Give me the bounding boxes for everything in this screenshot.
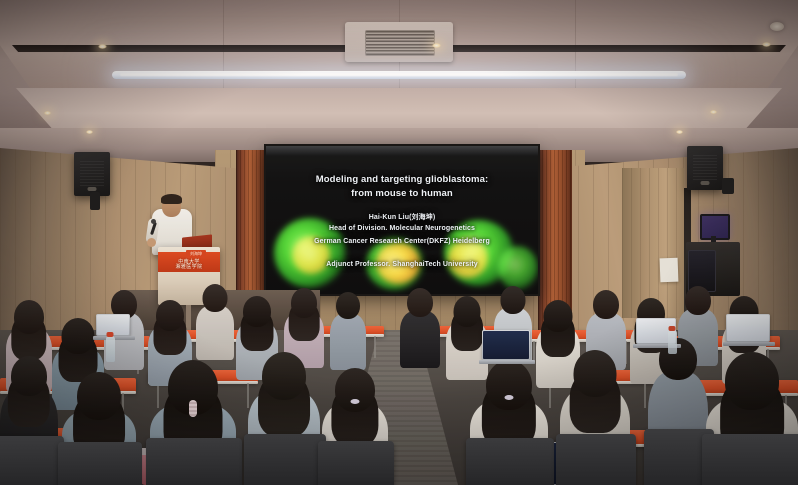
audience-torso	[330, 314, 366, 370]
slide-affiliation-2: German Cancer Research Center(DKFZ) Heid…	[266, 238, 538, 245]
downlight-icon	[86, 130, 93, 134]
audience-head	[501, 286, 526, 314]
audience-head	[243, 296, 271, 327]
slide-title-line2: from mouse to human	[266, 188, 538, 199]
chair-back	[146, 438, 242, 485]
downlight-icon	[98, 44, 107, 49]
hair-tie	[505, 395, 514, 400]
bottle-cap	[669, 326, 676, 331]
audience-head	[336, 292, 360, 319]
downlight-icon	[762, 42, 771, 47]
speaker-bracket-right	[722, 178, 734, 194]
chair-back	[244, 434, 326, 485]
audience-member	[196, 284, 234, 360]
speaker-logo	[701, 181, 710, 185]
audience-head	[574, 350, 617, 397]
slide-presenter-name: Hai-Kun Liu(刘海坤)	[266, 212, 538, 222]
audience-head	[262, 352, 306, 400]
slide-title-line1: Modeling and targeting glioblastoma:	[266, 174, 538, 185]
ceiling	[0, 0, 798, 150]
microphone-head	[151, 219, 156, 224]
bottle-cap	[107, 332, 114, 337]
chair-back	[0, 436, 64, 485]
audience-member	[330, 292, 366, 370]
hair-clip	[189, 400, 197, 417]
audience-head	[593, 290, 619, 319]
audience-head	[454, 296, 481, 327]
audience-torso	[400, 311, 440, 368]
door-panel-lines	[622, 168, 684, 318]
microscopy-blob-green	[498, 246, 538, 290]
desk-leg	[644, 383, 646, 408]
downlight-icon	[710, 110, 717, 114]
ac-vane	[442, 28, 449, 56]
ceiling-light-core	[120, 73, 679, 76]
slide-affiliation-3: Adjunct Professor. ShanghaiTech Universi…	[266, 261, 538, 268]
presenter-hand	[147, 238, 156, 247]
loudspeaker-right	[687, 146, 723, 190]
screen-top-glow	[266, 146, 538, 156]
audience-head	[544, 300, 573, 332]
audience-head	[486, 360, 532, 410]
chair-back	[466, 438, 554, 485]
podium-nameplate: 刘海坤	[186, 250, 206, 258]
side-door-panel[interactable]	[622, 168, 684, 318]
ac-grille	[365, 30, 435, 56]
ac-vane	[349, 28, 356, 56]
presenter-hair	[161, 194, 182, 204]
desk-leg	[374, 336, 376, 358]
chair-back	[58, 442, 142, 485]
slide-affiliation-1: Head of Division. Molecular Neurogenetic…	[266, 225, 538, 232]
water-bottle	[106, 336, 115, 362]
laptop-screen	[727, 315, 769, 341]
audience-head	[77, 372, 121, 420]
podium-banner-line2: 湘雅医学院	[158, 264, 220, 270]
audience-head	[407, 288, 433, 317]
audience-head	[725, 352, 779, 410]
hair-tie	[351, 399, 360, 404]
speaker-bracket-left	[90, 192, 100, 210]
audience-head	[156, 300, 184, 331]
audience-head	[14, 300, 44, 334]
chair-back	[556, 434, 636, 485]
laptop-base	[479, 360, 535, 364]
projection-screen[interactable]: Modeling and targeting glioblastoma: fro…	[266, 146, 538, 294]
audience-head	[62, 318, 95, 354]
audience-head	[335, 368, 375, 412]
laptop[interactable]	[726, 314, 770, 342]
audience-head	[291, 288, 317, 318]
speaker-logo	[88, 187, 97, 191]
downlight-icon	[44, 111, 51, 115]
water-bottle	[668, 330, 677, 354]
laptop[interactable]	[482, 330, 530, 360]
downlight-icon	[432, 43, 441, 48]
audience-head	[203, 284, 228, 312]
audience-member	[400, 288, 440, 368]
laptop-screen	[483, 331, 529, 359]
downlight-icon	[676, 130, 683, 134]
audience-head	[11, 356, 47, 396]
chair-back	[702, 434, 798, 485]
lecture-hall-screenshot: Modeling and targeting glioblastoma: fro…	[0, 0, 798, 485]
chair-back	[318, 441, 394, 485]
podium-nameplate-text: 刘海坤	[186, 250, 206, 258]
audience-torso	[196, 306, 234, 360]
sprinkler-icon	[770, 22, 784, 31]
loudspeaker-left	[74, 152, 110, 196]
wall-notice-paper	[660, 258, 679, 283]
laptop-base	[723, 342, 775, 346]
audience-head	[685, 286, 711, 315]
